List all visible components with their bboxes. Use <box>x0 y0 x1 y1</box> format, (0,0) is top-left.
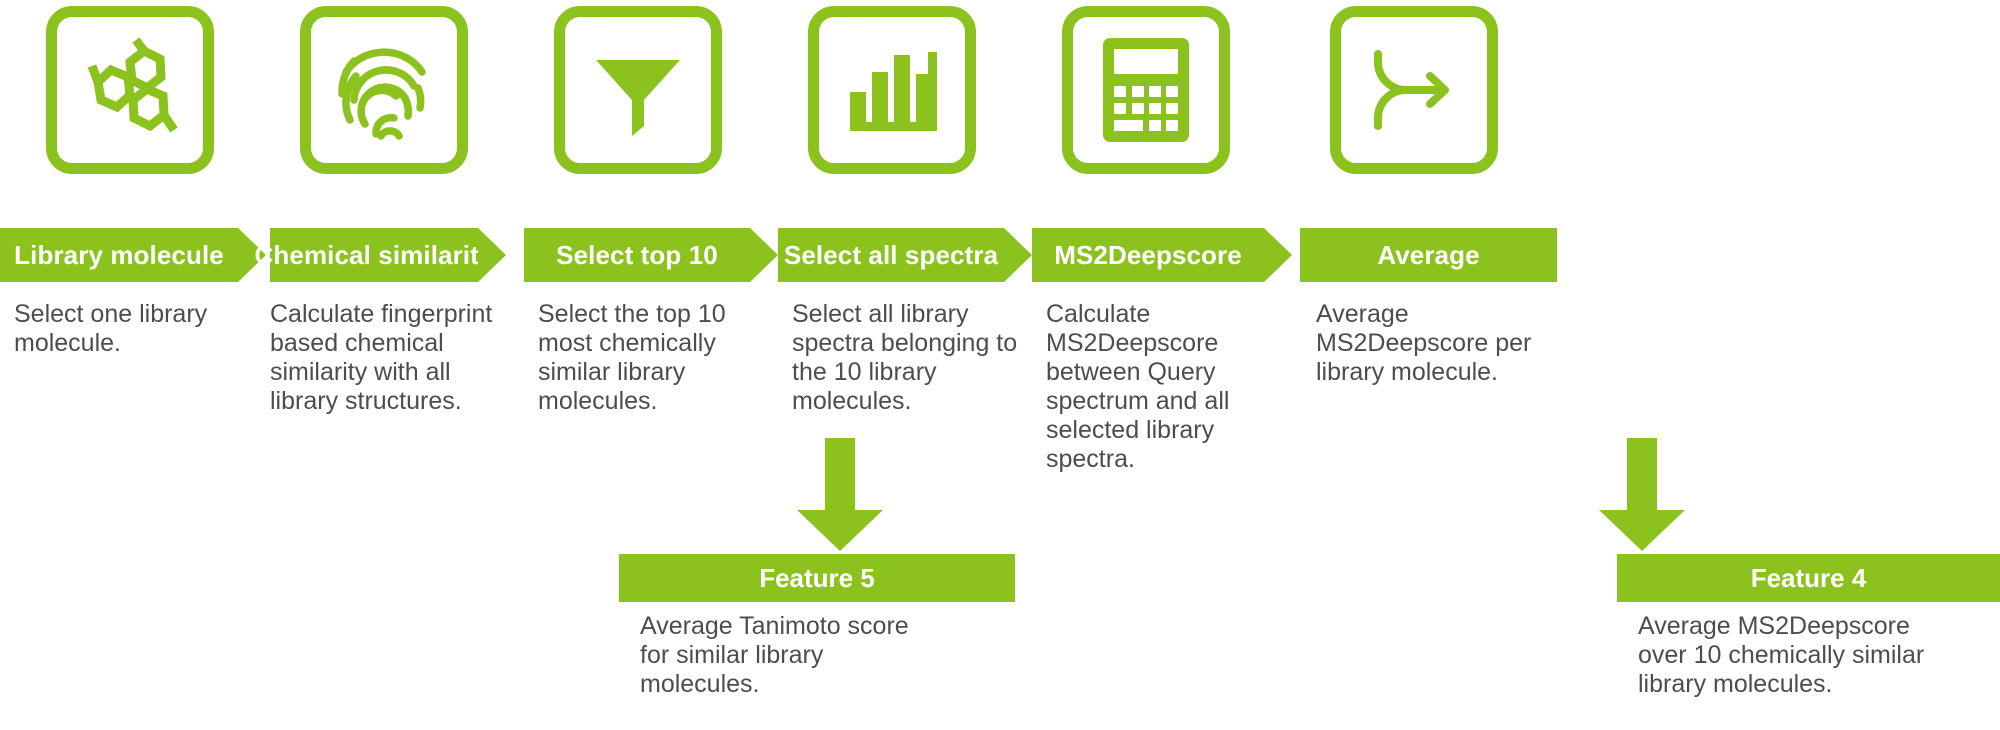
feature-banner-4[interactable]: Feature 4 <box>1617 554 2000 602</box>
banner-label: Select top 10 <box>556 240 718 271</box>
step-description-chemical-similarity: Calculate fingerprint based chemical sim… <box>270 300 510 416</box>
banner-label: Average <box>1377 240 1479 271</box>
bar-chart-icon <box>842 40 942 140</box>
step-tile-library-molecule[interactable] <box>46 6 214 174</box>
banner-average[interactable]: Average <box>1300 228 1557 282</box>
step-description-library-molecule: Select one library molecule. <box>14 300 246 358</box>
step-description-ms2deepscore: Calculate MS2Deepscore between Query spe… <box>1046 300 1278 474</box>
banner-select-top-10[interactable]: Select top 10 <box>524 228 778 282</box>
step-tile-select-all-spectra[interactable] <box>808 6 976 174</box>
banner-chevron-icon <box>478 228 506 282</box>
feature-description-5: Average Tanimoto score for similar libra… <box>640 612 1000 699</box>
feature-title: Feature 4 <box>1751 563 1867 594</box>
banner-ms2deepscore[interactable]: MS2Deepscore <box>1032 228 1292 282</box>
feature-banner-5[interactable]: Feature 5 <box>619 554 1015 602</box>
banner-chemical-similarity[interactable]: Chemical similarity <box>270 228 506 282</box>
feature-description-4: Average MS2Deepscore over 10 chemically … <box>1638 612 2000 699</box>
banner-chevron-icon <box>1264 228 1292 282</box>
step-description-select-top-10: Select the top 10 most chemically simila… <box>538 300 764 416</box>
banner-label: Chemical similarity <box>255 240 494 271</box>
calculator-icon <box>1103 38 1189 142</box>
banner-label: Select all spectra <box>784 240 998 271</box>
banner-label: Library molecule <box>14 240 224 271</box>
step-tile-ms2deepscore[interactable] <box>1062 6 1230 174</box>
step-tile-chemical-similarity[interactable] <box>300 6 468 174</box>
merge-arrow-icon <box>1364 40 1464 140</box>
step-tile-select-top-10[interactable] <box>554 6 722 174</box>
step-description-select-all-spectra: Select all library spectra belonging to … <box>792 300 1042 416</box>
feature-title: Feature 5 <box>759 563 875 594</box>
banner-chevron-icon <box>1004 228 1032 282</box>
banner-label: MS2Deepscore <box>1054 240 1242 271</box>
step-tile-average[interactable] <box>1330 6 1498 174</box>
down-arrow-to-feature-4 <box>1597 438 1687 553</box>
funnel-icon <box>588 40 688 140</box>
fingerprint-icon <box>332 36 436 144</box>
molecule-icon <box>78 38 182 142</box>
icon-row <box>0 0 2000 210</box>
banner-select-all-spectra[interactable]: Select all spectra <box>778 228 1032 282</box>
down-arrow-to-feature-5 <box>795 438 885 553</box>
banner-chevron-icon <box>750 228 778 282</box>
step-description-average: Average MS2Deepscore per library molecul… <box>1316 300 1566 387</box>
banner-library-molecule[interactable]: Library molecule <box>0 228 266 282</box>
